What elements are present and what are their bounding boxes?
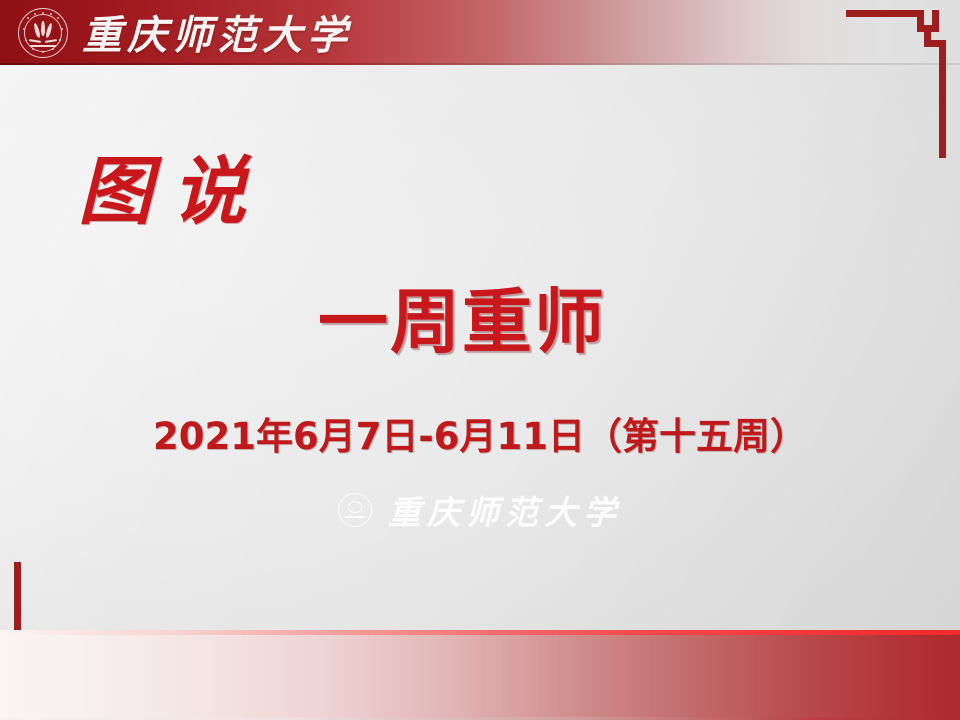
date-range-subtitle: 2021年6月7日-6月11日（第十五周） <box>0 406 960 460</box>
header-band: 重庆师范大学 <box>0 0 960 65</box>
seal-title: 图说 <box>78 132 266 239</box>
watermark-text: 重庆师范大学 <box>388 486 622 534</box>
university-seal-icon <box>18 8 68 58</box>
footer-band <box>0 630 960 720</box>
main-title: 一周重师 <box>318 266 606 367</box>
header-university-name: 重庆师范大学 <box>82 4 352 60</box>
watermark-seal-icon <box>338 493 372 527</box>
corner-ornament-top-right-icon <box>846 10 946 160</box>
presentation-slide: 重庆师范大学 图说 一周重师 2021年6月7日-6月11日（第十五周） 重庆师… <box>0 0 960 720</box>
watermark: 重庆师范大学 <box>0 486 960 534</box>
seal-ring-text <box>18 8 68 58</box>
footer-highlight-stripe <box>0 630 960 635</box>
